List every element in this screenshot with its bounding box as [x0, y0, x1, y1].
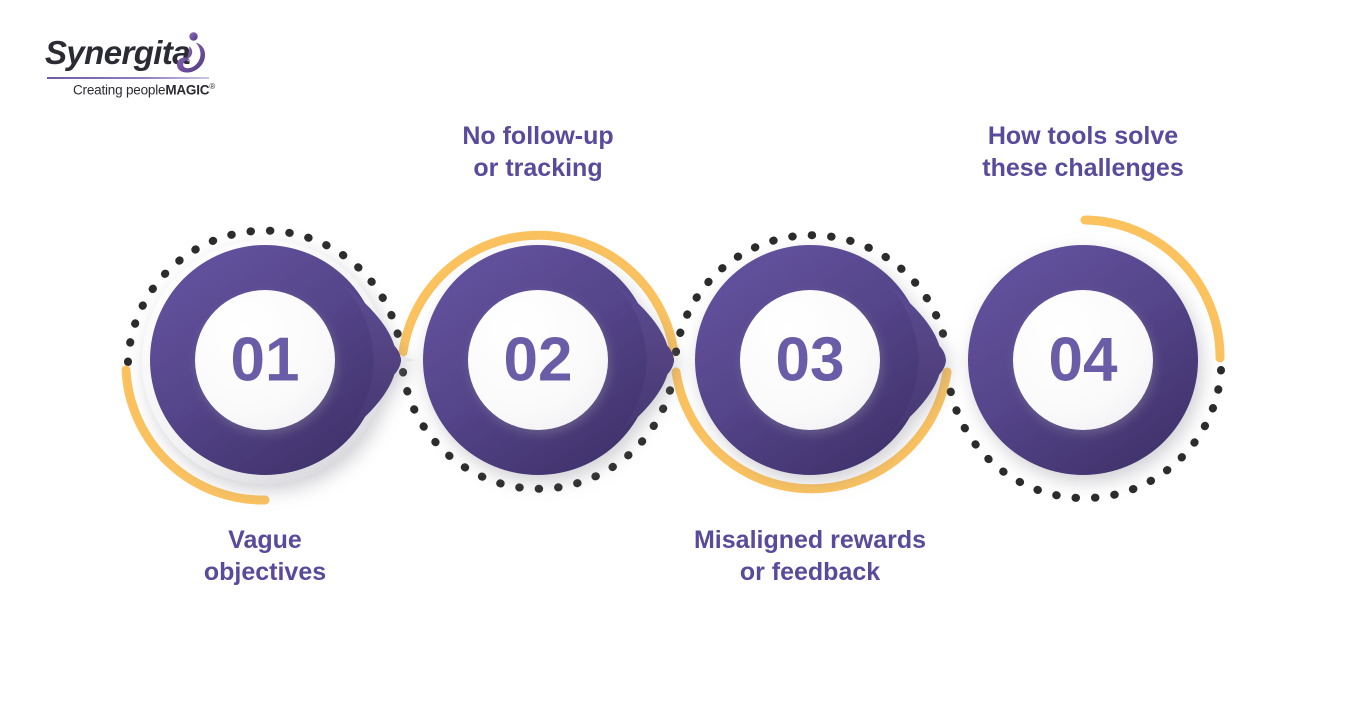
step-number-4: 04 [1049, 326, 1118, 395]
step-label-3: Misaligned rewards or feedback [650, 524, 970, 588]
step-3[interactable]: 03 [740, 290, 880, 430]
step-2[interactable]: 02 [468, 290, 608, 430]
step-number-1: 01 [231, 326, 300, 395]
step-label-4: How tools solve these challenges [943, 120, 1223, 184]
step-number-2: 02 [504, 326, 573, 395]
step-number-3: 03 [776, 326, 845, 395]
chain-diagram: 01 02 03 04 [0, 0, 1348, 706]
step-label-2: No follow-up or tracking [398, 120, 678, 184]
step-1[interactable]: 01 [195, 290, 335, 430]
step-4[interactable]: 04 [1013, 290, 1153, 430]
step-label-1: Vague objectives [125, 524, 405, 588]
infographic-canvas: Synergita Creating peopleMAGIC® [0, 0, 1348, 706]
